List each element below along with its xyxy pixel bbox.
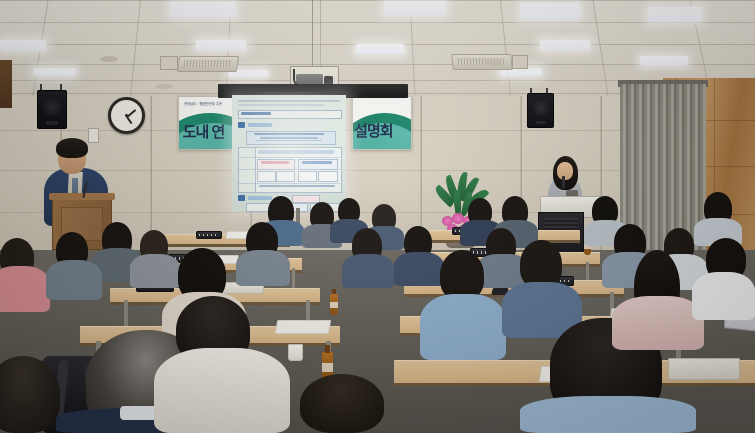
- ceiling-light: [170, 2, 236, 17]
- foreground-audience-head: [300, 374, 384, 433]
- conference-mic-unit[interactable]: [196, 231, 222, 239]
- wall-outlet-plate: [88, 128, 99, 143]
- audience-body: [692, 272, 755, 320]
- wall-speaker: [527, 93, 554, 128]
- conference-room-photo: 전라남도 · 행정안전부 주관 도내 연 설명회: [0, 0, 755, 433]
- ceiling-light: [196, 40, 246, 50]
- ceiling-light: [520, 3, 580, 19]
- right-banner: 설명회: [352, 96, 412, 150]
- drink-bottle: [330, 294, 338, 315]
- ceiling-ac-vent: [177, 56, 239, 72]
- handheld-microphone[interactable]: [562, 176, 565, 188]
- presenter-glasses: [60, 154, 84, 160]
- audience-body: [236, 250, 290, 286]
- wall-speaker: [37, 90, 67, 129]
- ceiling-ac-vent: [451, 54, 513, 70]
- foreground-audience-body: [154, 348, 290, 433]
- document-stack: [668, 358, 740, 380]
- ceiling-light: [640, 56, 688, 65]
- ceiling-light: [34, 68, 76, 76]
- screen-glow: [226, 92, 352, 216]
- foreground-audience-body: [520, 396, 696, 433]
- audience-body: [394, 252, 444, 286]
- ceiling-diffuser: [156, 84, 172, 89]
- handout-paper: [275, 320, 331, 334]
- audience-body: [420, 294, 506, 360]
- ceiling-light: [648, 7, 702, 22]
- audience-head: [440, 250, 484, 300]
- ceiling-diffuser: [100, 56, 118, 62]
- ceiling-light: [384, 1, 446, 15]
- orchid-flower: [452, 213, 464, 224]
- right-banner-headline: 설명회: [354, 120, 409, 141]
- audience-body: [342, 254, 394, 288]
- wall-trim-left: [0, 60, 12, 108]
- wall-clock: [108, 97, 145, 134]
- audience-body: [612, 296, 704, 350]
- ceiling-light: [540, 40, 590, 50]
- audience-body: [0, 266, 50, 312]
- audience-body: [130, 254, 180, 288]
- projector-wire: [312, 0, 313, 68]
- standing-moderator-face: [557, 162, 573, 180]
- paper-cup: [288, 344, 303, 361]
- ceiling-light: [356, 44, 404, 54]
- audience-body: [46, 260, 102, 300]
- ceiling-diffuser: [484, 60, 502, 66]
- ceiling-light: [0, 40, 46, 50]
- audience-head: [520, 240, 562, 288]
